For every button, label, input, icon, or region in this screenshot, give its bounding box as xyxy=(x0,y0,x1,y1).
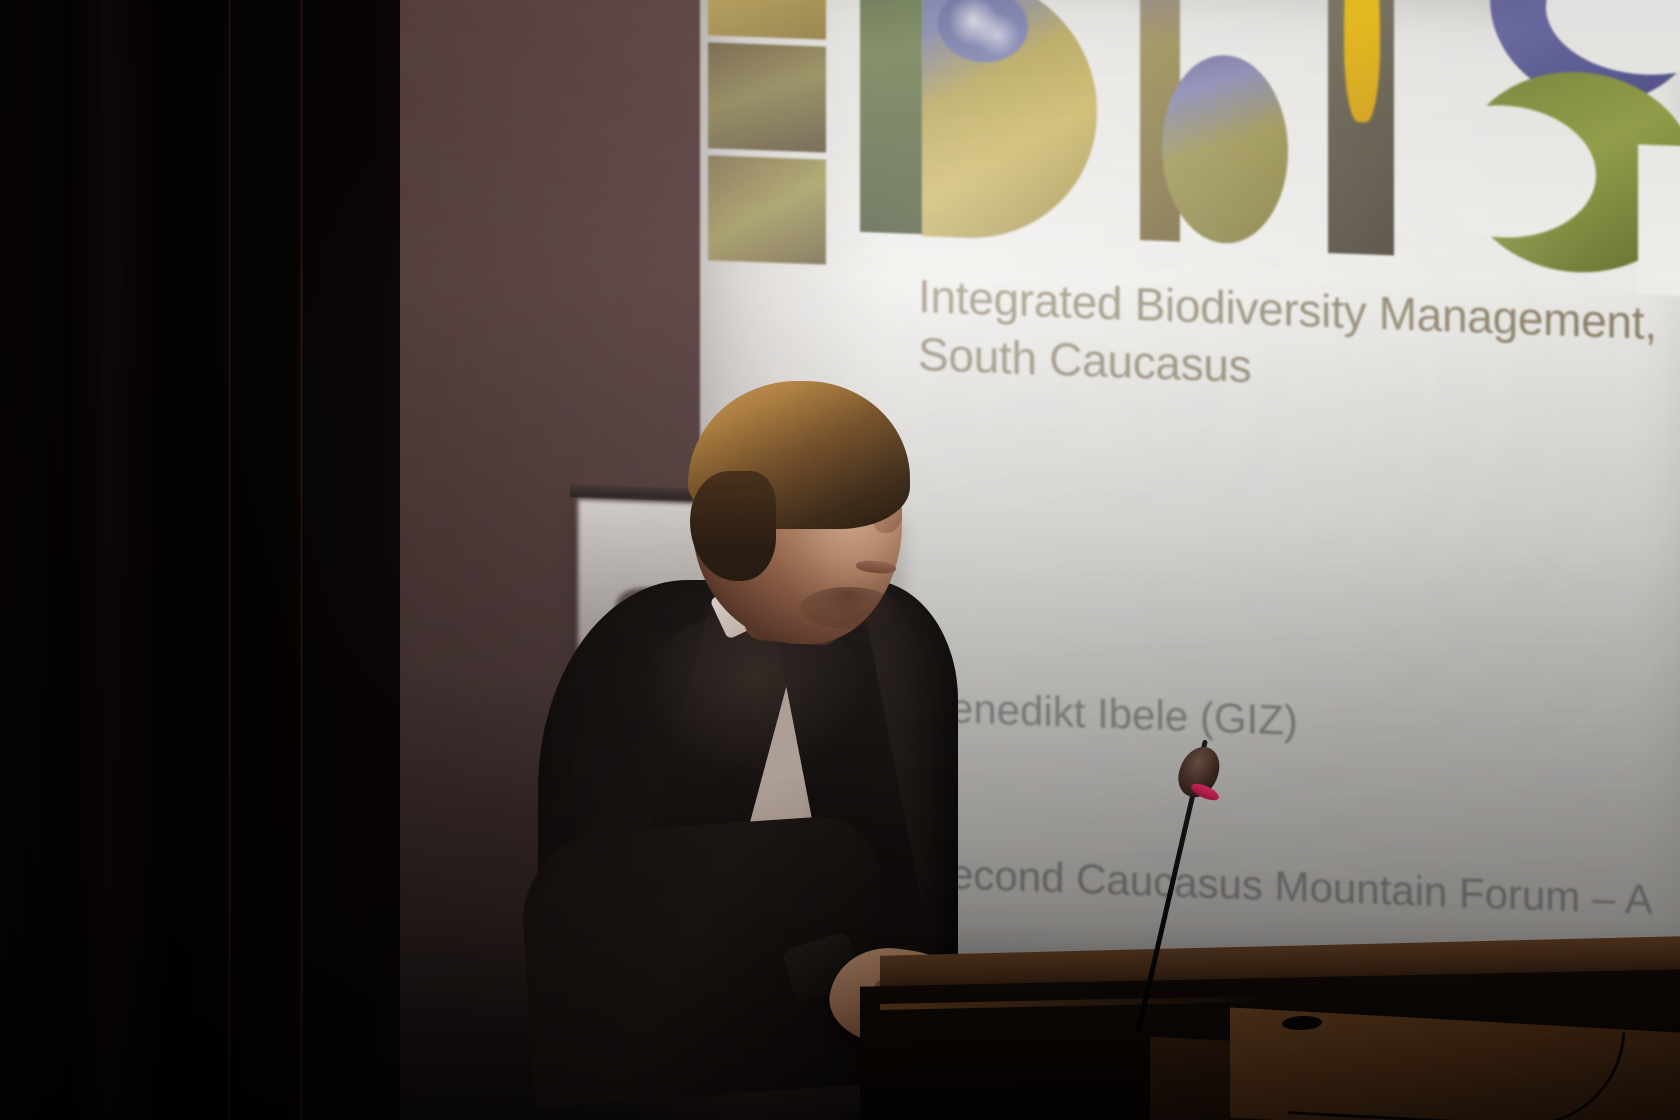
stage-curtain xyxy=(0,0,410,1120)
curtain-fold xyxy=(228,0,231,1120)
conference-photo-scene: Integrated Biodiversity Management, Sout… xyxy=(0,0,1680,1120)
curtain-fold xyxy=(300,0,303,1120)
microphone-cable xyxy=(1288,1015,1626,1120)
chin-shadow xyxy=(800,587,896,629)
